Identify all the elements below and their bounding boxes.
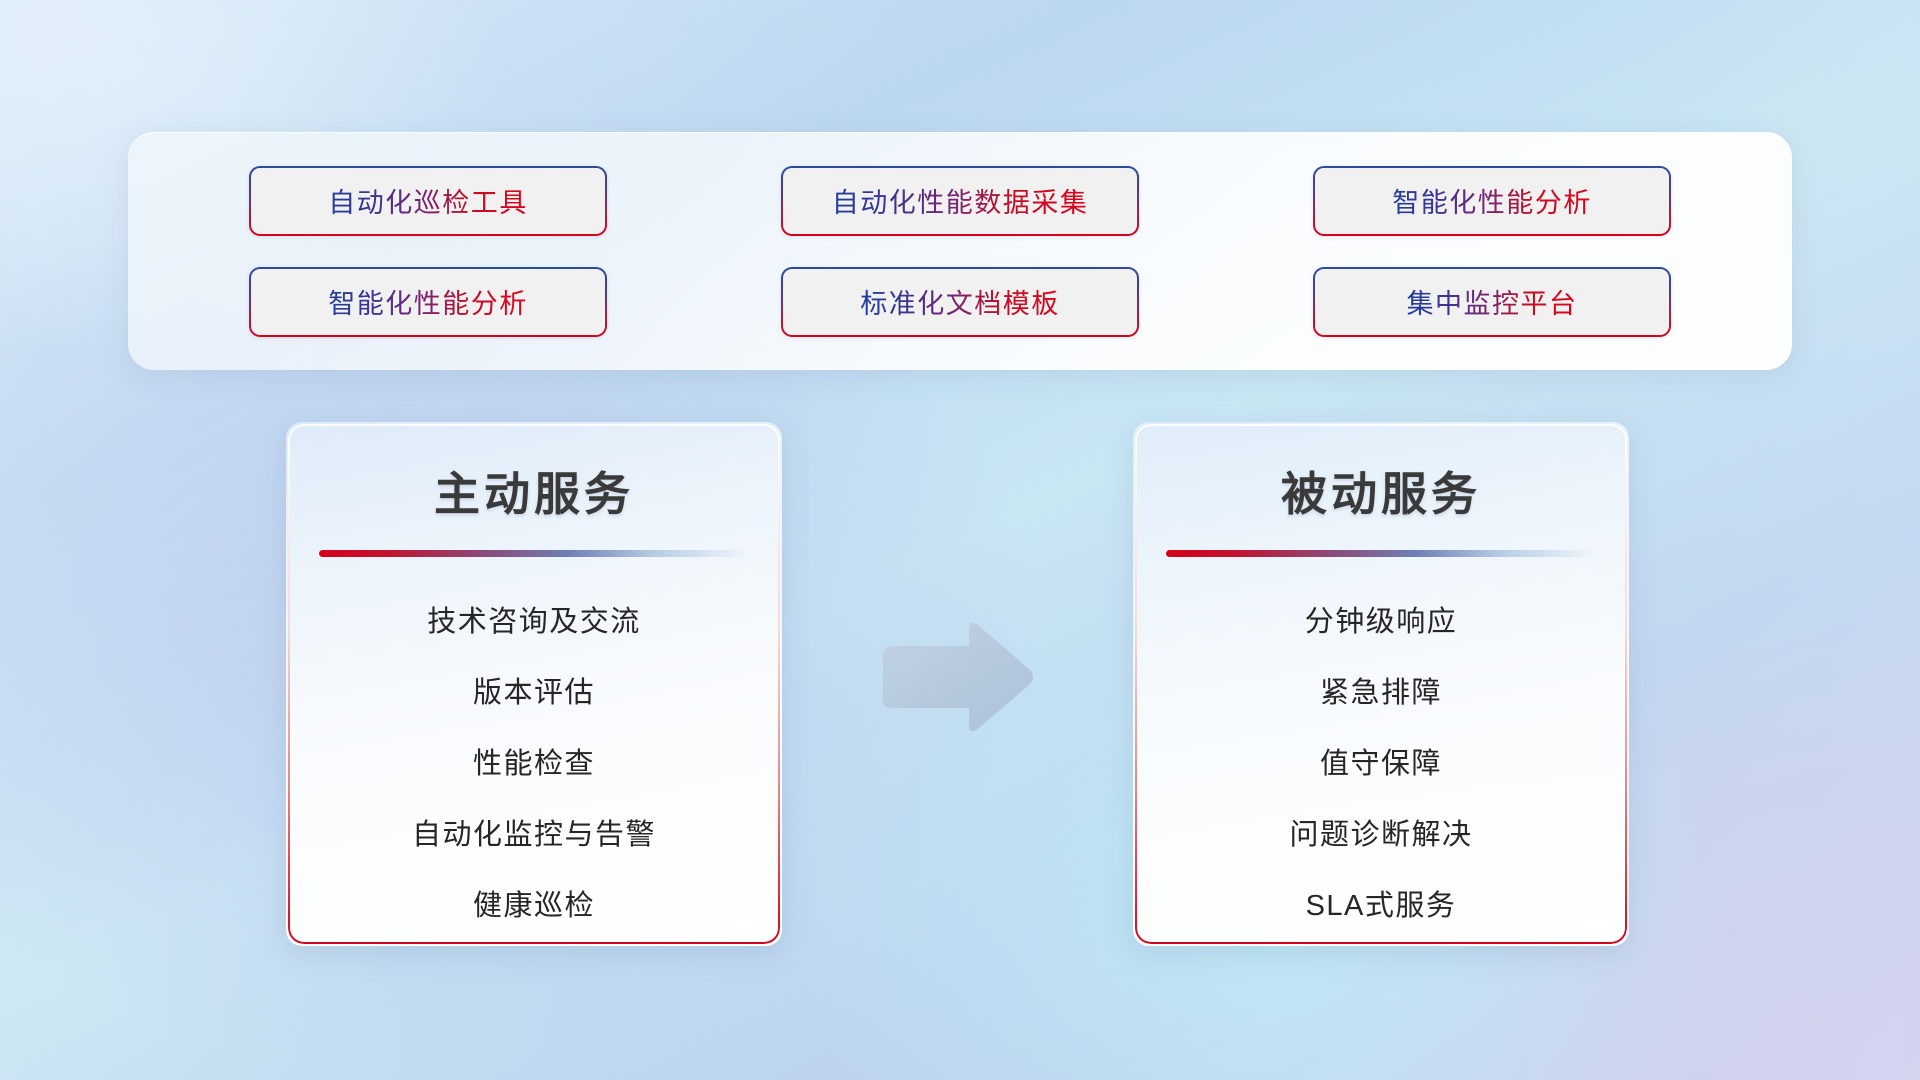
capability-pill[interactable]: 集中监控平台 — [1313, 267, 1671, 337]
card-item-list: 分钟级响应 紧急排障 值守保障 问题诊断解决 SLA式服务 — [1135, 587, 1627, 942]
capability-pill-label: 集中监控平台 — [1407, 282, 1578, 321]
capability-pill-label: 智能化性能分析 — [328, 282, 528, 321]
capabilities-panel: 自动化巡检工具 自动化性能数据采集 智能化性能分析 智能化性能分析 标准化文档模… — [128, 132, 1792, 370]
capability-pill-inner: 标准化文档模板 — [783, 269, 1137, 335]
capability-pill-label: 智能化性能分析 — [1392, 181, 1592, 220]
capability-pill-inner: 智能化性能分析 — [1315, 168, 1669, 234]
card-divider — [319, 550, 749, 557]
capability-pill-inner: 自动化性能数据采集 — [783, 168, 1137, 234]
card-list-item: 紧急排障 — [1320, 658, 1442, 729]
card-list-item: 性能检查 — [473, 729, 595, 800]
card-item-list: 技术咨询及交流 版本评估 性能检查 自动化监控与告警 健康巡检 — [288, 587, 780, 942]
capability-pill[interactable]: 智能化性能分析 — [249, 267, 607, 337]
card-list-item: 健康巡检 — [473, 871, 595, 942]
card-list-item: 值守保障 — [1320, 729, 1442, 800]
capability-pill-inner: 集中监控平台 — [1315, 269, 1669, 335]
service-card-proactive: 主动服务 技术咨询及交流 版本评估 性能检查 自动化监控与告警 健康巡检 — [286, 422, 782, 946]
card-divider — [1166, 550, 1596, 557]
capability-pill[interactable]: 标准化文档模板 — [781, 267, 1139, 337]
capability-pill-label: 自动化性能数据采集 — [832, 181, 1089, 220]
card-title: 被动服务 — [1135, 458, 1627, 524]
card-list-item: 自动化监控与告警 — [412, 800, 656, 871]
card-list-item: 问题诊断解决 — [1289, 800, 1472, 871]
capability-pill[interactable]: 自动化性能数据采集 — [781, 166, 1139, 236]
capability-pill-label: 自动化巡检工具 — [328, 181, 528, 220]
right-arrow-icon — [877, 619, 1037, 735]
capability-pill-label: 标准化文档模板 — [860, 282, 1060, 321]
card-list-item: SLA式服务 — [1306, 871, 1457, 942]
capability-pill[interactable]: 自动化巡检工具 — [249, 166, 607, 236]
card-list-item: 版本评估 — [473, 658, 595, 729]
capability-pill-inner: 自动化巡检工具 — [251, 168, 605, 234]
service-card-reactive: 被动服务 分钟级响应 紧急排障 值守保障 问题诊断解决 SLA式服务 — [1133, 422, 1629, 946]
card-list-item: 技术咨询及交流 — [427, 587, 641, 658]
capability-pill[interactable]: 智能化性能分析 — [1313, 166, 1671, 236]
capability-pill-inner: 智能化性能分析 — [251, 269, 605, 335]
card-list-item: 分钟级响应 — [1305, 587, 1458, 658]
card-title: 主动服务 — [288, 458, 780, 524]
slide-canvas: 自动化巡检工具 自动化性能数据采集 智能化性能分析 智能化性能分析 标准化文档模… — [0, 0, 1920, 1080]
